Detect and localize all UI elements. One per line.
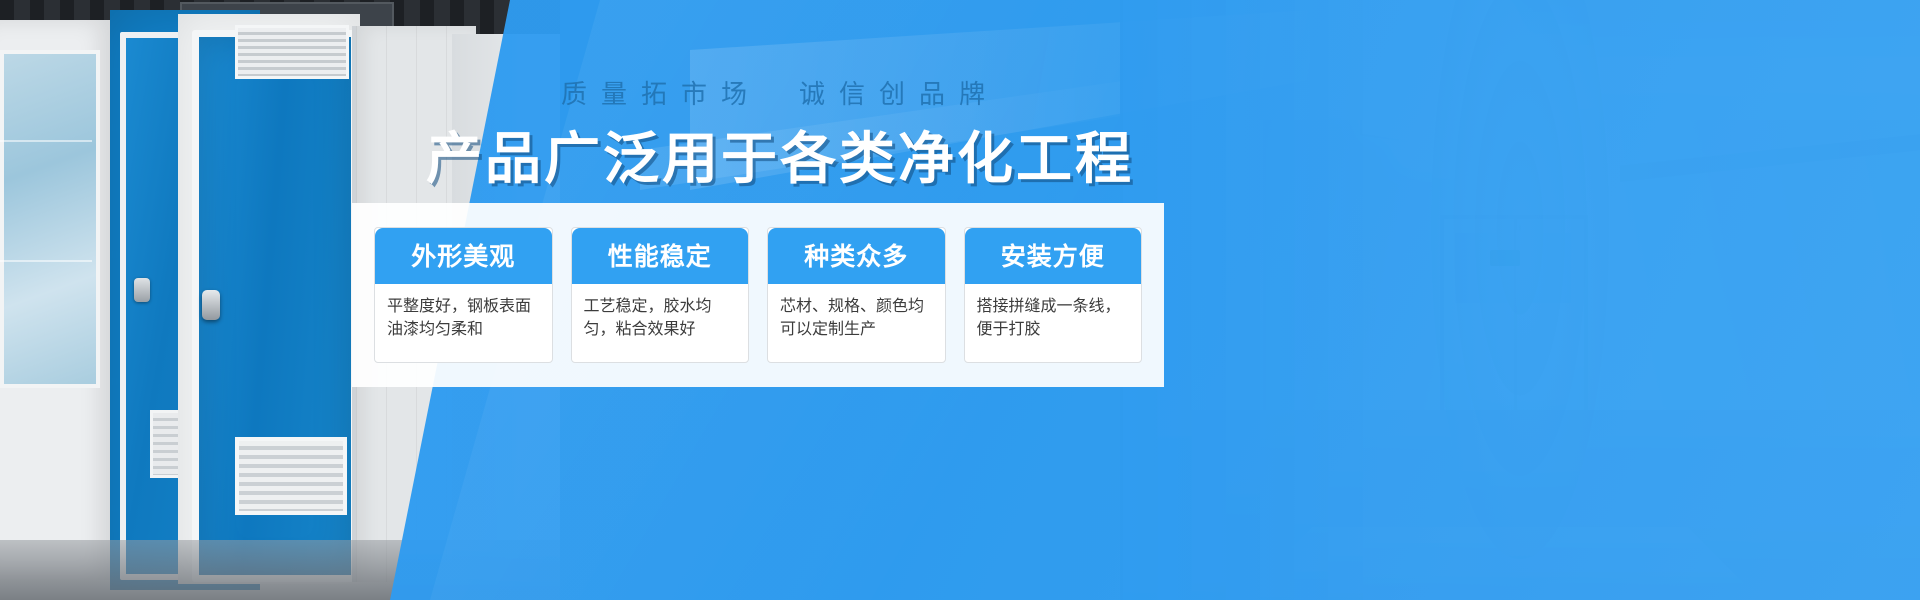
- top-vent-icon: [235, 25, 349, 79]
- louver-vent-icon: [235, 437, 347, 515]
- feature-card[interactable]: 性能稳定 工艺稳定，胶水均匀，粘合效果好: [571, 227, 750, 363]
- feature-card[interactable]: 种类众多 芯材、规格、颜色均可以定制生产: [767, 227, 946, 363]
- feature-card-title: 性能稳定: [572, 228, 749, 284]
- feature-card[interactable]: 安装方便 搭接拼缝成一条线，便于打胶: [964, 227, 1143, 363]
- feature-card-text: 芯材、规格、颜色均可以定制生产: [768, 284, 945, 349]
- panel-seam: [0, 260, 92, 262]
- feature-panel: 外形美观 平整度好，钢板表面油漆均匀柔和 性能稳定 工艺稳定，胶水均匀，粘合效果…: [352, 203, 1164, 387]
- feature-card[interactable]: 外形美观 平整度好，钢板表面油漆均匀柔和: [374, 227, 553, 363]
- door-knob-icon: [134, 278, 150, 302]
- promo-banner: 质量拓市场诚信创品牌 产品广泛用于各类净化工程 外形美观 平整度好，钢板表面油漆…: [0, 0, 1920, 600]
- feature-card-list: 外形美观 平整度好，钢板表面油漆均匀柔和 性能稳定 工艺稳定，胶水均匀，粘合效果…: [352, 203, 1164, 387]
- feature-card-title: 种类众多: [768, 228, 945, 284]
- feature-card-text: 搭接拼缝成一条线，便于打胶: [965, 284, 1142, 349]
- feature-card-title: 外形美观: [375, 228, 552, 284]
- banner-slogan: 质量拓市场诚信创品牌: [0, 74, 1560, 111]
- feature-card-text: 平整度好，钢板表面油漆均匀柔和: [375, 284, 552, 349]
- banner-headline: 产品广泛用于各类净化工程: [0, 114, 1560, 195]
- feature-card-text: 工艺稳定，胶水均匀，粘合效果好: [572, 284, 749, 349]
- slogan-right: 诚信创品牌: [799, 79, 999, 109]
- door-handle-icon: [202, 290, 220, 320]
- feature-card-title: 安装方便: [965, 228, 1142, 284]
- slogan-left: 质量拓市场: [561, 79, 761, 109]
